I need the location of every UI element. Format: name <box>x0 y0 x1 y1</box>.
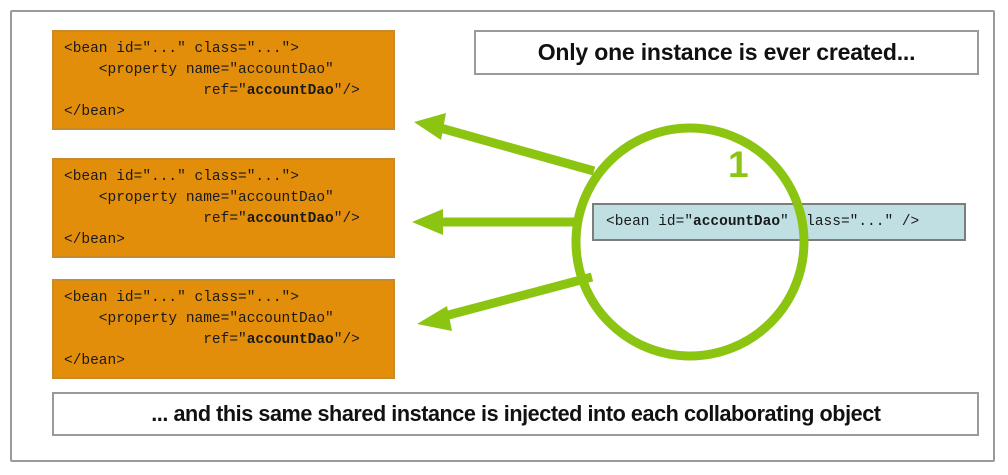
bean-ref-value: accountDao <box>247 83 334 99</box>
collaborator-bean-block-3: <bean id="..." class="..."> <property na… <box>52 279 395 379</box>
bean-code-line: <bean id="..." class="..."> <box>64 288 383 309</box>
collaborator-bean-block-1: <bean id="..." class="..."> <property na… <box>52 30 395 130</box>
bottom-caption-box: ... and this same shared instance is inj… <box>52 392 979 436</box>
diagram-canvas: <bean id="..." class="..."> <property na… <box>0 0 1008 475</box>
collaborator-bean-block-2: <bean id="..." class="..."> <property na… <box>52 158 395 258</box>
bean-code-line: ref="accountDao"/> <box>64 209 383 230</box>
bean-code-line: </bean> <box>64 230 383 251</box>
bean-code-line: </bean> <box>64 351 383 372</box>
bean-ref-suffix: "/> <box>334 83 360 99</box>
bean-code-line: ref="accountDao"/> <box>64 330 383 351</box>
singleton-suffix: " class="..." /> <box>780 214 919 230</box>
bean-code-line: ref="accountDao"/> <box>64 81 383 102</box>
bean-ref-suffix: "/> <box>334 211 360 227</box>
bean-ref-value: accountDao <box>247 332 334 348</box>
bean-code-line: <property name="accountDao" <box>64 309 383 330</box>
bean-code-line: <property name="accountDao" <box>64 60 383 81</box>
bean-code-line: <bean id="..." class="..."> <box>64 39 383 60</box>
singleton-bean-box: <bean id="accountDao" class="..." /> <box>592 203 966 241</box>
singleton-prefix: <bean id=" <box>606 214 693 230</box>
singleton-bean-id: accountDao <box>693 214 780 230</box>
bean-code-line: <bean id="..." class="..."> <box>64 167 383 188</box>
bean-ref-prefix: ref=" <box>64 211 247 227</box>
bean-ref-suffix: "/> <box>334 332 360 348</box>
bottom-caption-text: ... and this same shared instance is inj… <box>151 401 880 427</box>
instance-count-label: 1 <box>728 146 749 183</box>
top-caption-box: Only one instance is ever created... <box>474 30 979 75</box>
bean-ref-prefix: ref=" <box>64 83 247 99</box>
bean-ref-value: accountDao <box>247 211 334 227</box>
bean-ref-prefix: ref=" <box>64 332 247 348</box>
bean-code-line: <property name="accountDao" <box>64 188 383 209</box>
bean-code-line: </bean> <box>64 102 383 123</box>
singleton-bean-code: <bean id="accountDao" class="..." /> <box>606 213 919 231</box>
top-caption-text: Only one instance is ever created... <box>538 39 916 66</box>
